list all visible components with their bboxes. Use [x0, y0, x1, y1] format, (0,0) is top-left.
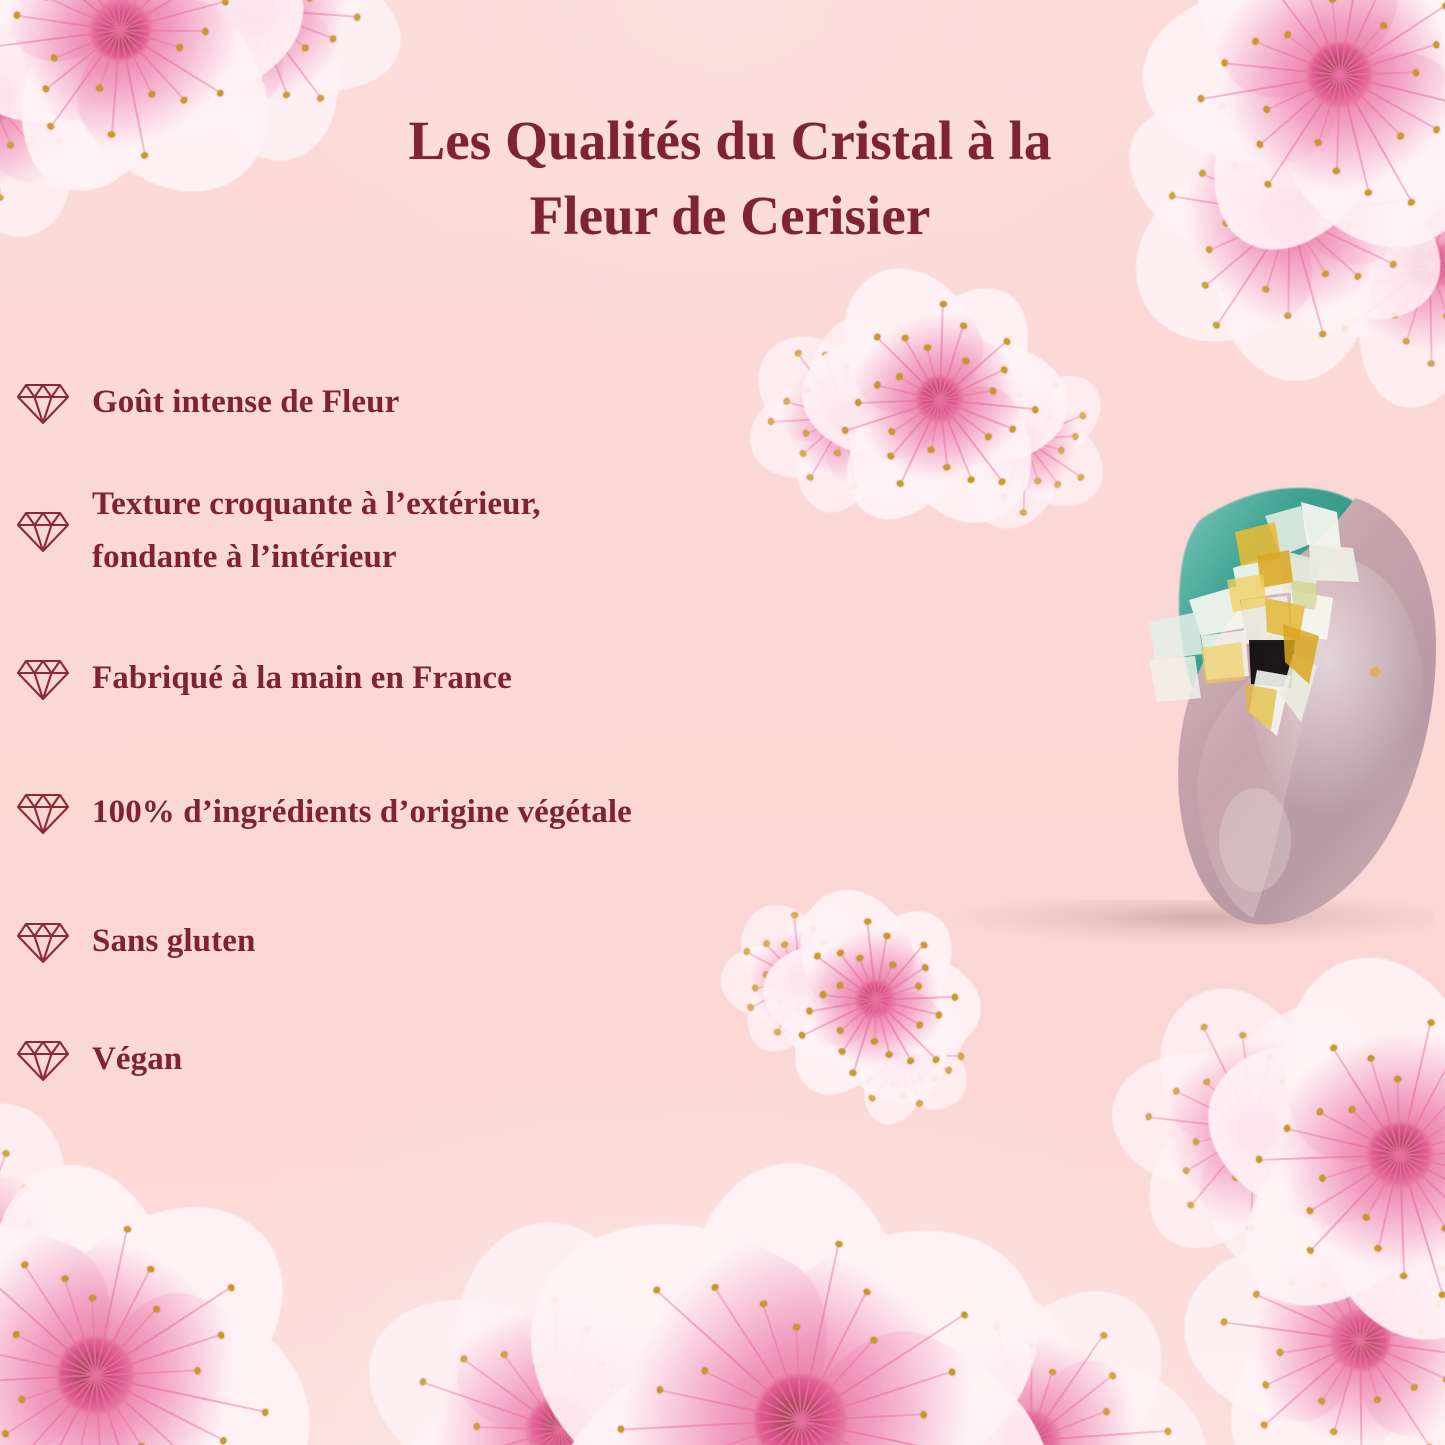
- list-item: Végan: [0, 1005, 920, 1115]
- blossom-top-right: [1241, 76, 1445, 453]
- list-item: 100% d’ingrédients d’origine végétale: [0, 747, 920, 879]
- blossom-bottom-center: [513, 1133, 1086, 1445]
- list-item: Goût intense de Fleur: [0, 355, 920, 451]
- blossom-bottom-center: [787, 1197, 1273, 1445]
- product-crystal-image: [1105, 440, 1445, 930]
- product-feature-card: Les Qualités du Cristal à la Fleur de Ce…: [0, 0, 1445, 1445]
- list-item-label: Goût intense de Fleur: [92, 376, 399, 429]
- list-item-label: Sans gluten: [92, 915, 255, 968]
- list-item-label: Fabriqué à la main en France: [92, 652, 512, 705]
- blossom-bottom-right: [1144, 899, 1445, 1412]
- list-item-label: Végan: [92, 1033, 182, 1086]
- page-title-line-2: Fleur de Cerisier: [300, 179, 1160, 254]
- diamond-icon: [16, 380, 70, 426]
- blossom-bottom-right: [1124, 1104, 1445, 1445]
- diamond-icon: [16, 919, 70, 965]
- feature-list: Goût intense de Fleur Texture croquante …: [0, 355, 920, 1115]
- page-title-line-1: Les Qualités du Cristal à la: [300, 104, 1160, 179]
- blossom-top-left: [0, 0, 341, 251]
- diamond-icon: [16, 656, 70, 702]
- list-item-label: Texture croquante à l’extérieur, fondant…: [92, 478, 541, 585]
- diamond-icon: [16, 508, 70, 554]
- list-item: Texture croquante à l’extérieur, fondant…: [0, 451, 920, 611]
- blossom-bottom-right: [1079, 954, 1431, 1306]
- list-item: Sans gluten: [0, 879, 920, 1005]
- list-item: Fabriqué à la main en France: [0, 611, 920, 747]
- diamond-icon: [16, 1037, 70, 1083]
- blossom-bottom-center: [293, 1163, 828, 1445]
- blossom-top-left: [0, 0, 194, 299]
- page-title: Les Qualités du Cristal à la Fleur de Ce…: [300, 104, 1160, 254]
- blossom-bottom-left: [0, 1107, 363, 1445]
- diamond-icon: [16, 790, 70, 836]
- list-item-label: 100% d’ingrédients d’origine végétale: [92, 786, 632, 839]
